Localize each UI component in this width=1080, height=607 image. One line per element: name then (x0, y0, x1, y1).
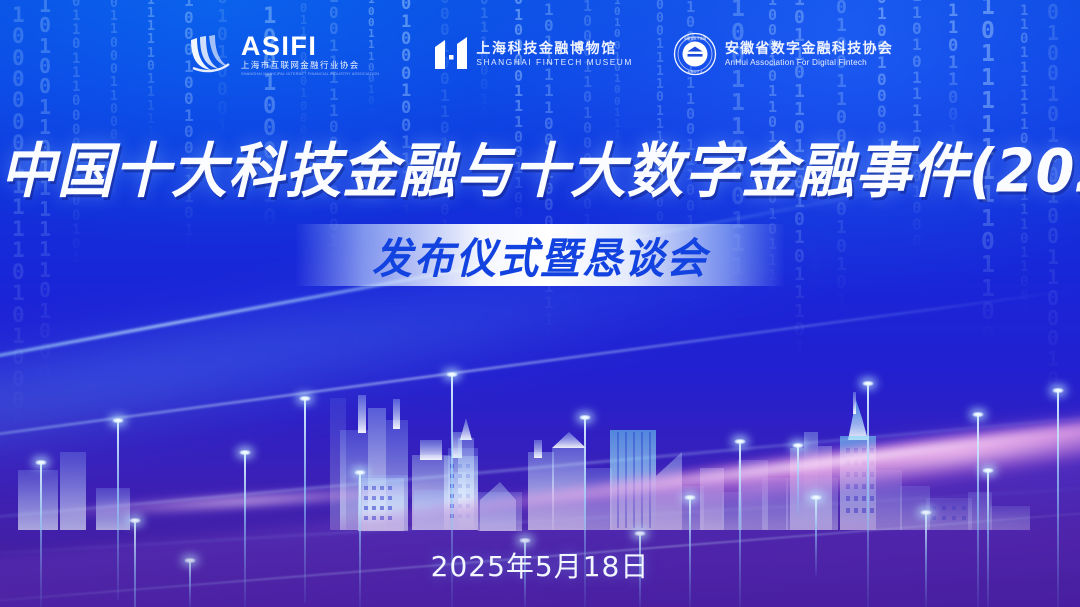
light-pole-lamp (983, 468, 994, 473)
poster-date: 2025年5月18日 (0, 545, 1080, 585)
logo-anhui-digital-fintech: 安徽省数字金融 A H D F A 安徽省数字金融科技协会 AnHui Asso… (673, 32, 893, 76)
light-pole-lamp (240, 450, 251, 455)
light-pole-lamp (113, 418, 124, 423)
city-skyline-silhouette (0, 0, 1080, 607)
subtitle-banner: 发布仪式暨恳谈会 (295, 224, 785, 286)
light-pole (792, 445, 804, 515)
light-pole-shaft (40, 462, 42, 607)
logo-shanghai-fintech-museum: 上海科技金融博物馆 SHANGHAI FINTECH MUSEUM (434, 35, 632, 73)
light-pole-lamp (863, 381, 874, 386)
light-pole-lamp (1053, 388, 1064, 393)
logo-sftm-sub: 上海科技金融博物馆 (476, 41, 632, 56)
logo-asifi: ASIFI 上海市互联网金融行业协会 SHANGHAI MUNICIPAL IN… (187, 32, 395, 76)
light-pole-shaft (797, 445, 799, 515)
light-pole-lamp (355, 470, 366, 475)
light-pole-lamp (793, 443, 804, 448)
light-pole-lamp (447, 372, 458, 377)
light-streak (0, 407, 1080, 536)
light-pole-lamp (580, 415, 591, 420)
light-pole-lamp (520, 538, 531, 543)
light-pole-lamp (811, 495, 822, 500)
logo-ahdf-sub2: AnHui Association For Digital Fintech (725, 58, 893, 67)
light-pole (35, 462, 47, 607)
wave-swoosh-logo-mark-icon (187, 34, 233, 74)
logo-sftm-sub2: SHANGHAI FINTECH MUSEUM (476, 58, 632, 67)
light-pole-lamp (921, 510, 932, 515)
light-pole-lamp (36, 460, 47, 465)
light-pole-lamp (300, 396, 311, 401)
logo-ahdf-sub: 安徽省数字金融科技协会 (725, 41, 893, 56)
light-streak (0, 289, 1074, 468)
anhui-association-seal-logo-mark-icon: 安徽省数字金融 A H D F A (673, 32, 717, 76)
logo-asifi-sub: 上海市互联网金融行业协会 (241, 61, 395, 70)
poster-subtitle: 发布仪式暨恳谈会 (372, 225, 708, 286)
light-pole (982, 470, 994, 607)
logo-asifi-main: ASIFI (241, 32, 395, 60)
light-pole-shaft (987, 470, 989, 607)
svg-text:安徽省数字金融: 安徽省数字金融 (684, 36, 707, 41)
shanghai-fintech-museum-logo-mark-icon (434, 35, 468, 73)
light-pole-lamp (635, 531, 646, 536)
light-pole-lamp (735, 439, 746, 444)
logo-bar: ASIFI 上海市互联网金融行业协会 SHANGHAI MUNICIPAL IN… (0, 32, 1080, 76)
poster-title: 中国十大科技金融与十大数字金融事件(2024) (0, 124, 1080, 210)
pink-light-sweep-left (0, 458, 461, 551)
svg-text:A H D F A: A H D F A (687, 70, 703, 74)
light-pole-lamp (973, 412, 984, 417)
light-streak (0, 185, 910, 417)
light-pole (354, 472, 366, 607)
poster-canvas: 0 1 1 0 0 0 0 0 0 1 1 1 1 1 0 1 0 1 0 0 … (0, 0, 1080, 607)
binary-rain-background: 0 1 1 0 0 0 0 0 0 1 1 1 1 1 0 1 0 1 0 0 … (0, 0, 1080, 607)
light-pole-lamp (685, 495, 696, 500)
logo-asifi-sub2: SHANGHAI MUNICIPAL INTERNET FINANCIAL IN… (241, 72, 379, 76)
light-pole-shaft (359, 472, 361, 607)
light-pole-lamp (130, 518, 141, 523)
